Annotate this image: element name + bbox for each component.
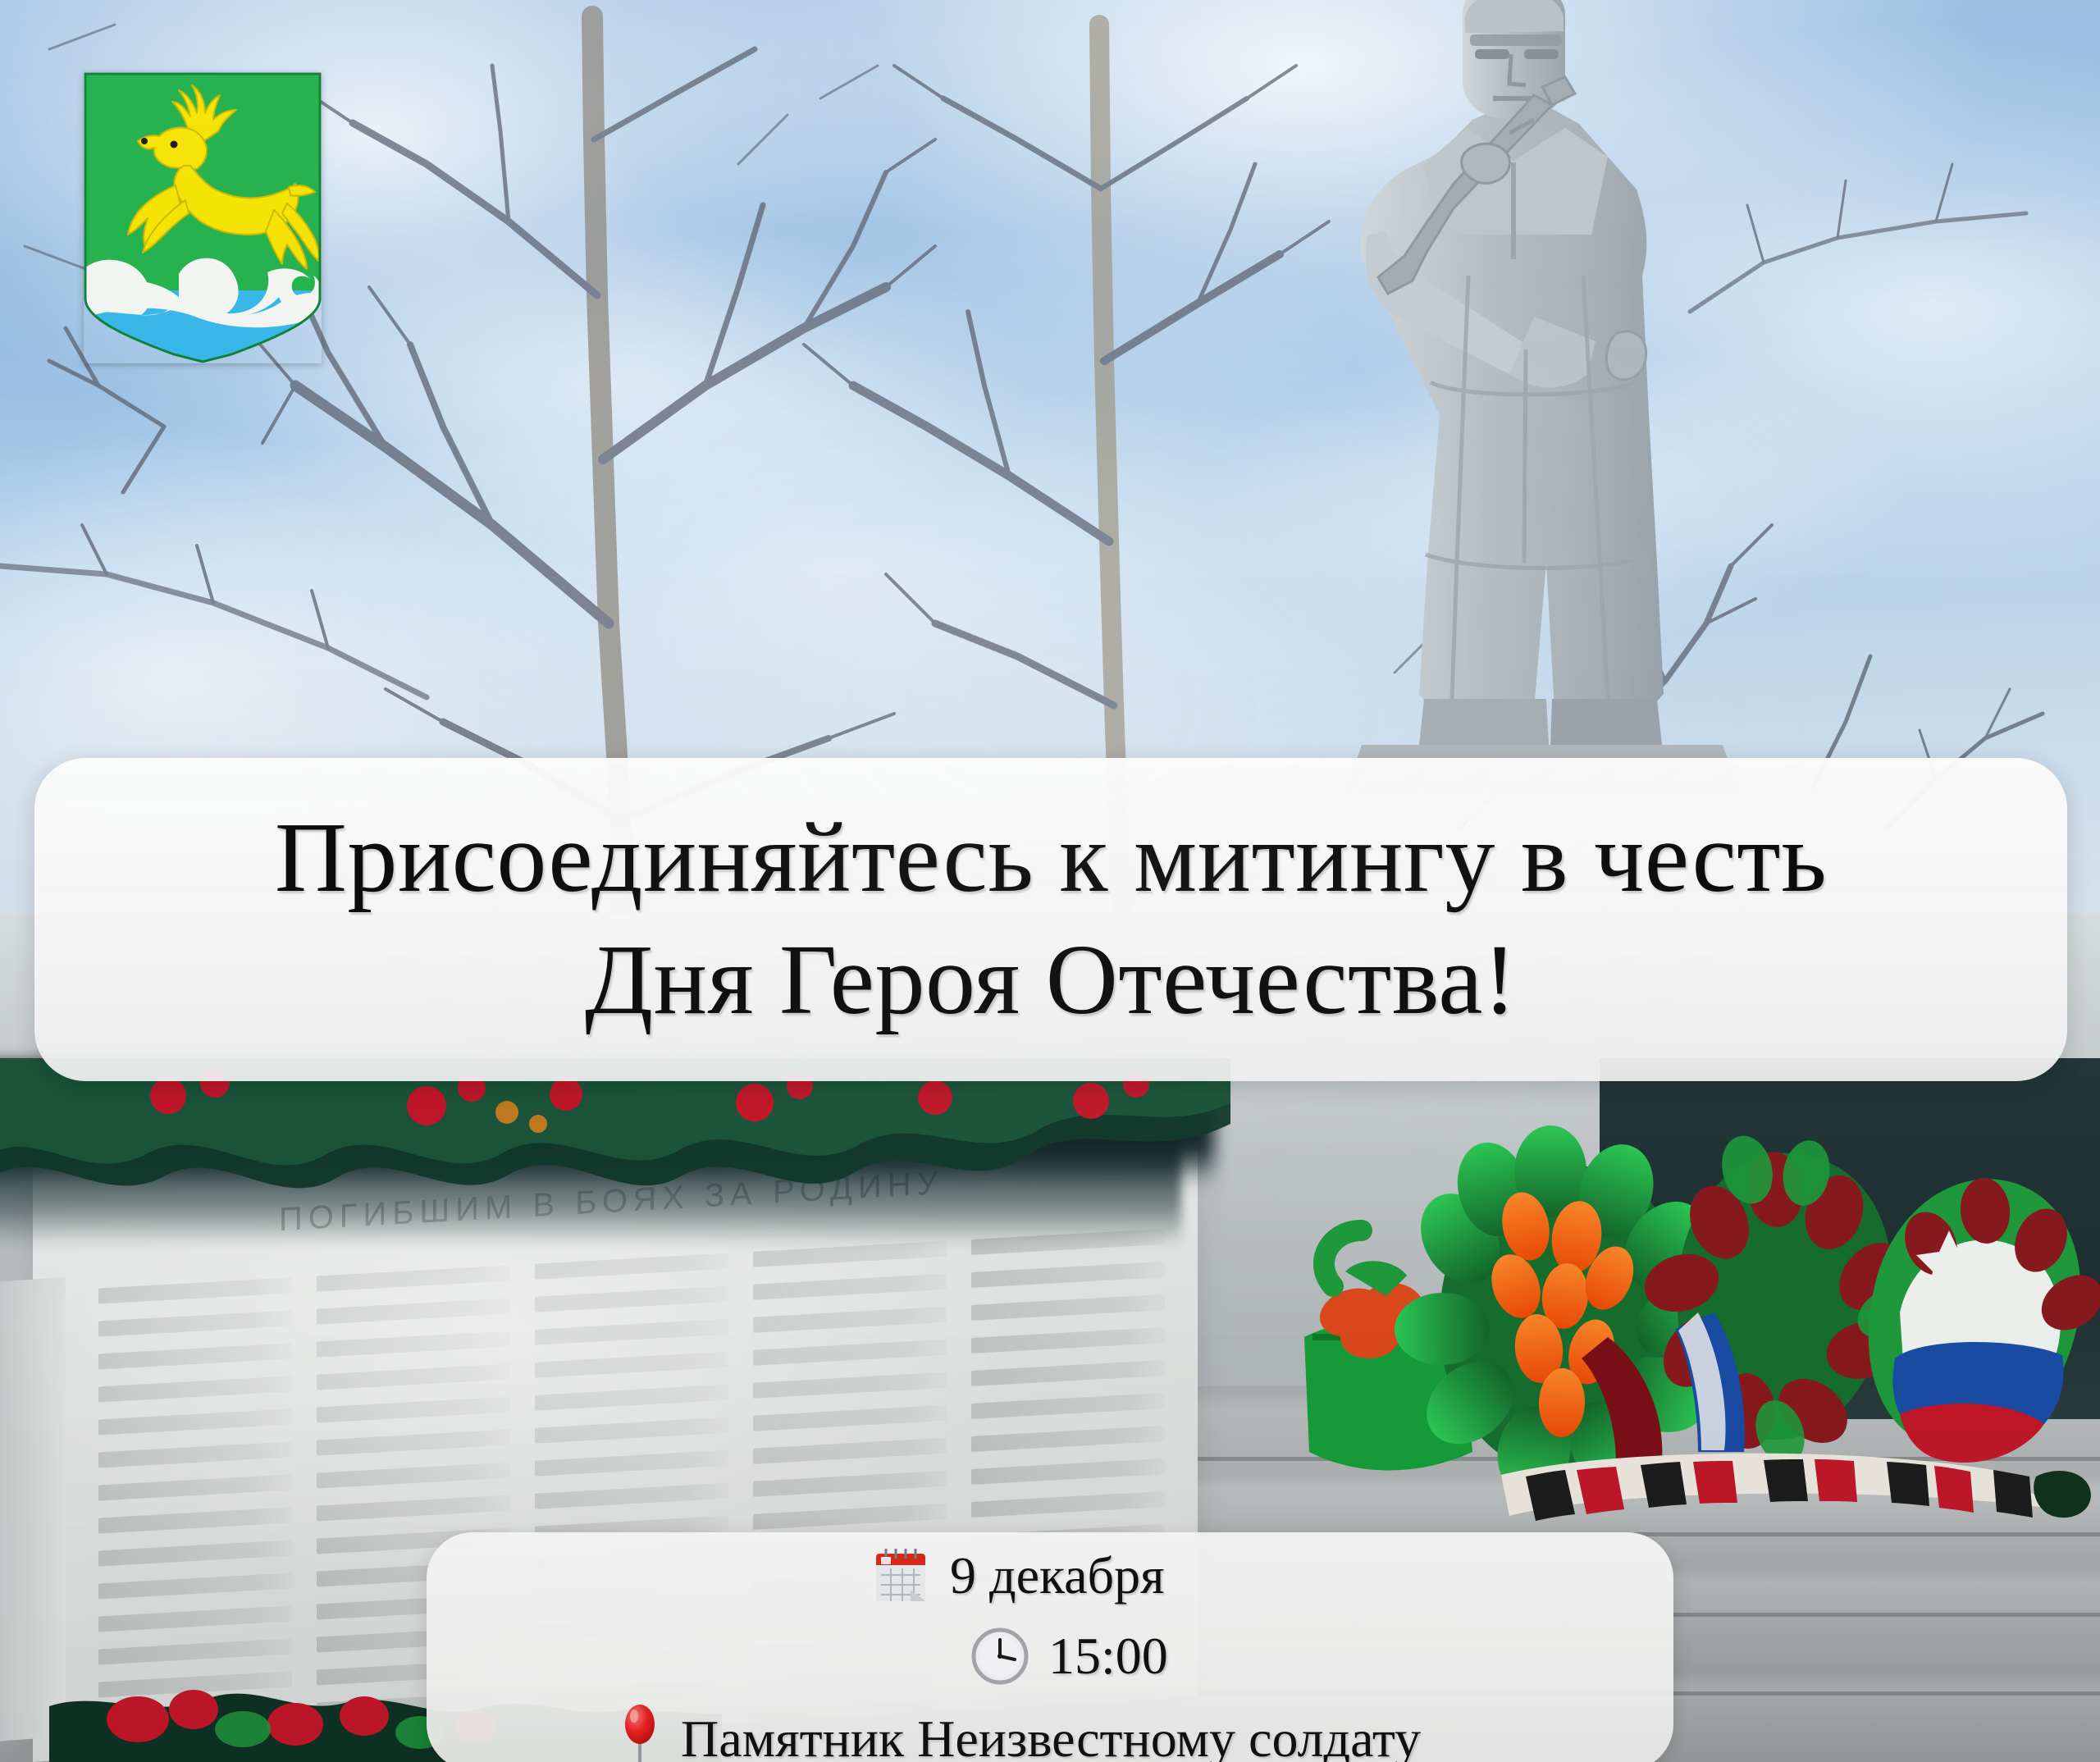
plaque-name (753, 1405, 947, 1431)
plaque-name (317, 1429, 510, 1455)
plaque-name (753, 1438, 947, 1464)
calendar-icon (870, 1544, 934, 1608)
plaque-side-panel (0, 1277, 66, 1741)
headline-card: Присоединяйтесь к митингу в честь Дня Ге… (34, 758, 2067, 1081)
poster-root: ПОГИБШИМ В БОЯХ ЗА РОДИНУ (0, 0, 2100, 1762)
headline-line-1: Присоединяйтесь к митингу в честь (275, 797, 1827, 920)
plaque-name (317, 1331, 510, 1357)
event-place-row: Памятник Неизвестному солдату (615, 1701, 1421, 1762)
plaque-name (971, 1294, 1165, 1321)
clock-icon (968, 1624, 1032, 1688)
plaque-name (98, 1376, 292, 1402)
plaque-name (98, 1638, 292, 1664)
plaque-name (98, 1573, 292, 1599)
plaque-name (317, 1298, 510, 1324)
plaque-name (753, 1372, 947, 1399)
plaque-name (971, 1458, 1165, 1485)
plaque-name (317, 1462, 510, 1488)
plaque-name (753, 1504, 947, 1530)
soldier-statue (1263, 0, 1887, 792)
event-date-text: 9 декабря (950, 1545, 1165, 1606)
event-time-text: 15:00 (1048, 1626, 1168, 1687)
plaque-name (535, 1450, 728, 1477)
plaque-name (98, 1540, 292, 1566)
plaque-name (753, 1307, 947, 1333)
plaque-name (535, 1352, 728, 1378)
plaque-name (753, 1274, 947, 1300)
wreath-tricolor (1869, 1175, 2100, 1463)
plaque-name (971, 1360, 1165, 1386)
plaque-name (971, 1393, 1165, 1419)
plaque-name (98, 1310, 292, 1336)
plaque-name (971, 1491, 1165, 1518)
plaque-name (535, 1286, 728, 1312)
event-info-card: 9 декабря 15:00 (427, 1532, 1673, 1762)
event-place-text: Памятник Неизвестному солдату (681, 1709, 1421, 1762)
plaque-name (535, 1385, 728, 1411)
plaque-name (98, 1474, 292, 1500)
plaque-name (535, 1319, 728, 1345)
plaque-name (753, 1340, 947, 1366)
plaque-name (317, 1265, 510, 1291)
plaque-name (971, 1262, 1165, 1288)
plaque-name (317, 1363, 510, 1390)
event-time-row: 15:00 (968, 1624, 1168, 1688)
plaque-name (971, 1327, 1165, 1353)
plaque-name (317, 1396, 510, 1422)
memorial-wreaths (1255, 1066, 2100, 1575)
st-george-ribbons (1501, 1454, 2091, 1521)
event-date-row: 9 декабря (870, 1544, 1165, 1608)
plaque-name (98, 1277, 292, 1303)
plaque-name (535, 1417, 728, 1444)
plaque-name (98, 1507, 292, 1533)
coat-of-arms (84, 72, 322, 363)
plaque-name (98, 1441, 292, 1468)
headline-line-2: Дня Героя Отечества! (585, 920, 1517, 1042)
plaque-name (98, 1343, 292, 1369)
plaque-name (971, 1426, 1165, 1452)
plaque-name (535, 1483, 728, 1509)
plaque-name (535, 1253, 728, 1280)
pushpin-icon (615, 1701, 664, 1762)
plaque-name (98, 1605, 292, 1632)
plaque-name (98, 1408, 292, 1435)
plaque-name (753, 1471, 947, 1497)
fir-garland (0, 1058, 1230, 1222)
plaque-name (317, 1495, 510, 1521)
